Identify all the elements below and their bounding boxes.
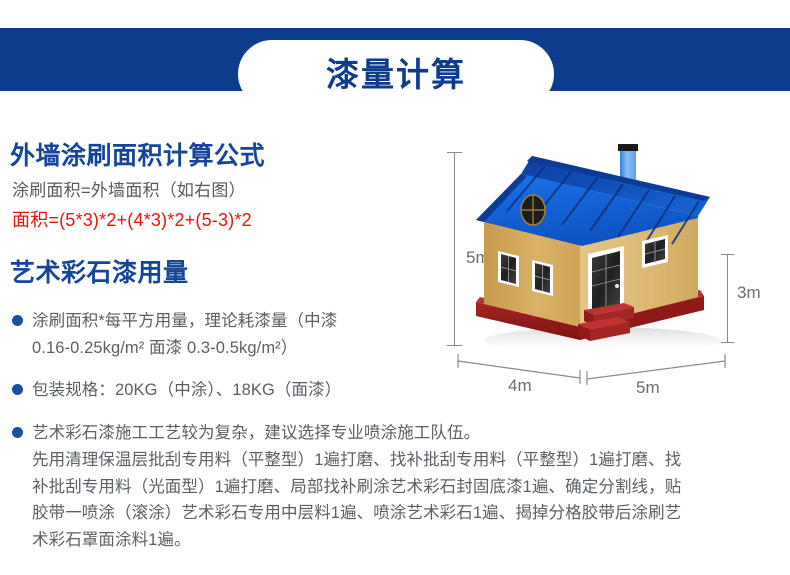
list-item-text: 艺术彩石漆施工工艺较为复杂，建议选择专业喷涂施工队伍。 先用清理保温层批刮专用料… bbox=[32, 420, 790, 554]
dimension-line-height-left bbox=[454, 152, 455, 346]
page-title: 漆量计算 bbox=[326, 58, 466, 91]
list-item-line: 补批刮专用料（光面型）1遍打磨、局部找补刷涂艺术彩石封固底漆1遍、确定分割线，贴 bbox=[32, 474, 790, 501]
list-item: 包装规格：20KG（中涂）、18KG（面漆） bbox=[0, 377, 492, 404]
bullet-dot-icon bbox=[12, 315, 23, 326]
list-item-line: 术彩石罩面涂料1遍。 bbox=[32, 527, 790, 554]
list-item-line: 包装规格：20KG（中涂）、18KG（面漆） bbox=[32, 377, 492, 404]
door-knob bbox=[615, 284, 619, 288]
bullet-dot-icon bbox=[12, 384, 23, 395]
list-item-line: 先用清理保温层批刮专用料（平整型）1遍打磨、找补批刮专用料（平整型）1遍打磨、找 bbox=[32, 447, 790, 474]
house-graphic bbox=[472, 134, 732, 359]
section-heading-formula: 外墙涂刷面积计算公式 bbox=[10, 136, 265, 172]
header-title-pill: 漆量计算 bbox=[238, 40, 554, 108]
section-heading-usage: 艺术彩石漆用量 bbox=[10, 253, 189, 289]
list-item-line: 涂刷面积*每平方用量，理论耗漆量（中漆 bbox=[32, 308, 452, 335]
list-item: 涂刷面积*每平方用量，理论耗漆量（中漆 0.16-0.25kg/m² 面漆 0.… bbox=[0, 308, 452, 361]
list-item-line: 胶带一喷涂（滚涂）艺术彩石专用中层料1遍、喷涂艺术彩石1遍、揭掉分格胶带后涂刷艺 bbox=[32, 500, 790, 527]
list-item: 艺术彩石漆施工工艺较为复杂，建议选择专业喷涂施工队伍。 先用清理保温层批刮专用料… bbox=[0, 420, 790, 554]
dimension-label-width-front: 5m bbox=[636, 378, 660, 398]
bullet-dot-icon bbox=[12, 427, 23, 438]
list-item-text: 包装规格：20KG（中涂）、18KG（面漆） bbox=[32, 377, 492, 404]
dimension-label-height-right: 3m bbox=[737, 283, 761, 303]
chimney-cap bbox=[618, 144, 638, 151]
list-item-line: 0.16-0.25kg/m² 面漆 0.3-0.5kg/m²） bbox=[32, 335, 452, 362]
area-formula: 面积=(5*3)*2+(4*3)*2+(5-3)*2 bbox=[12, 206, 252, 232]
section-subtitle-formula: 涂刷面积=外墙面积（如右图） bbox=[12, 176, 246, 201]
list-item-text: 涂刷面积*每平方用量，理论耗漆量（中漆 0.16-0.25kg/m² 面漆 0.… bbox=[32, 308, 452, 361]
dimension-tick-top-left bbox=[447, 152, 462, 153]
paint-quantity-infographic: 漆量计算 外墙涂刷面积计算公式 涂刷面积=外墙面积（如右图） 面积=(5*3)*… bbox=[0, 0, 790, 575]
dimension-label-width-side: 4m bbox=[508, 376, 532, 396]
list-item-line: 艺术彩石漆施工工艺较为复杂，建议选择专业喷涂施工队伍。 bbox=[32, 420, 790, 447]
house-illustration: 5m 3m 4m 5m bbox=[440, 128, 790, 413]
